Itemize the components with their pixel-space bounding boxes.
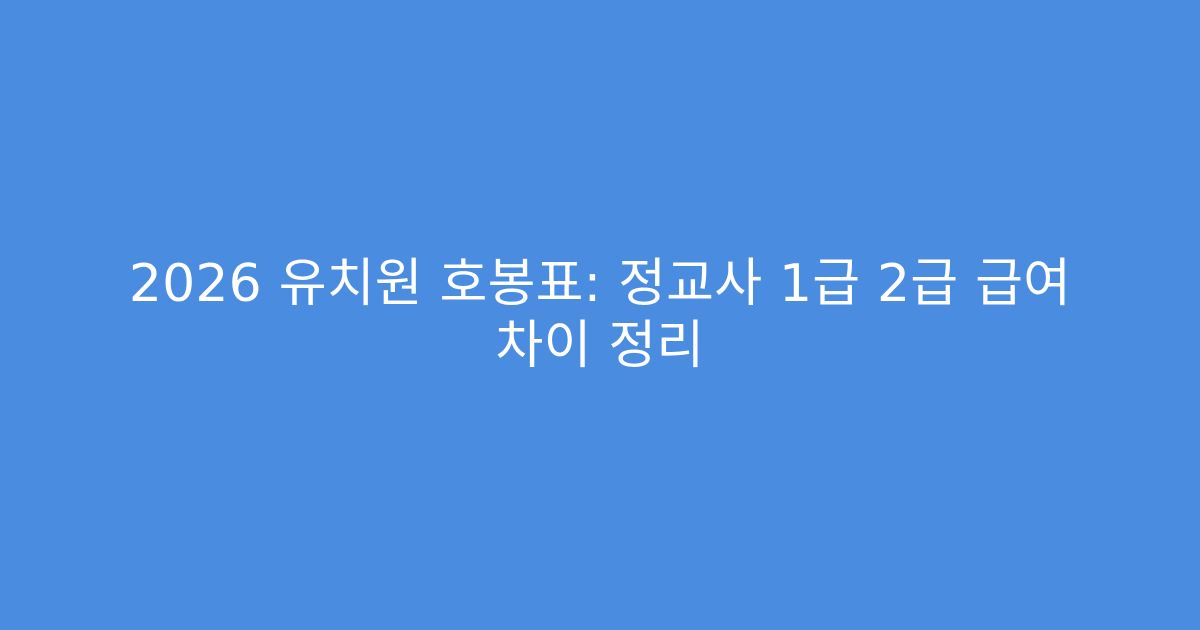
title-block: 2026 유치원 호봉표: 정교사 1급 2급 급여 차이 정리	[0, 253, 1200, 377]
og-share-card: 2026 유치원 호봉표: 정교사 1급 2급 급여 차이 정리	[0, 0, 1200, 630]
page-title: 2026 유치원 호봉표: 정교사 1급 2급 급여 차이 정리	[96, 253, 1104, 377]
